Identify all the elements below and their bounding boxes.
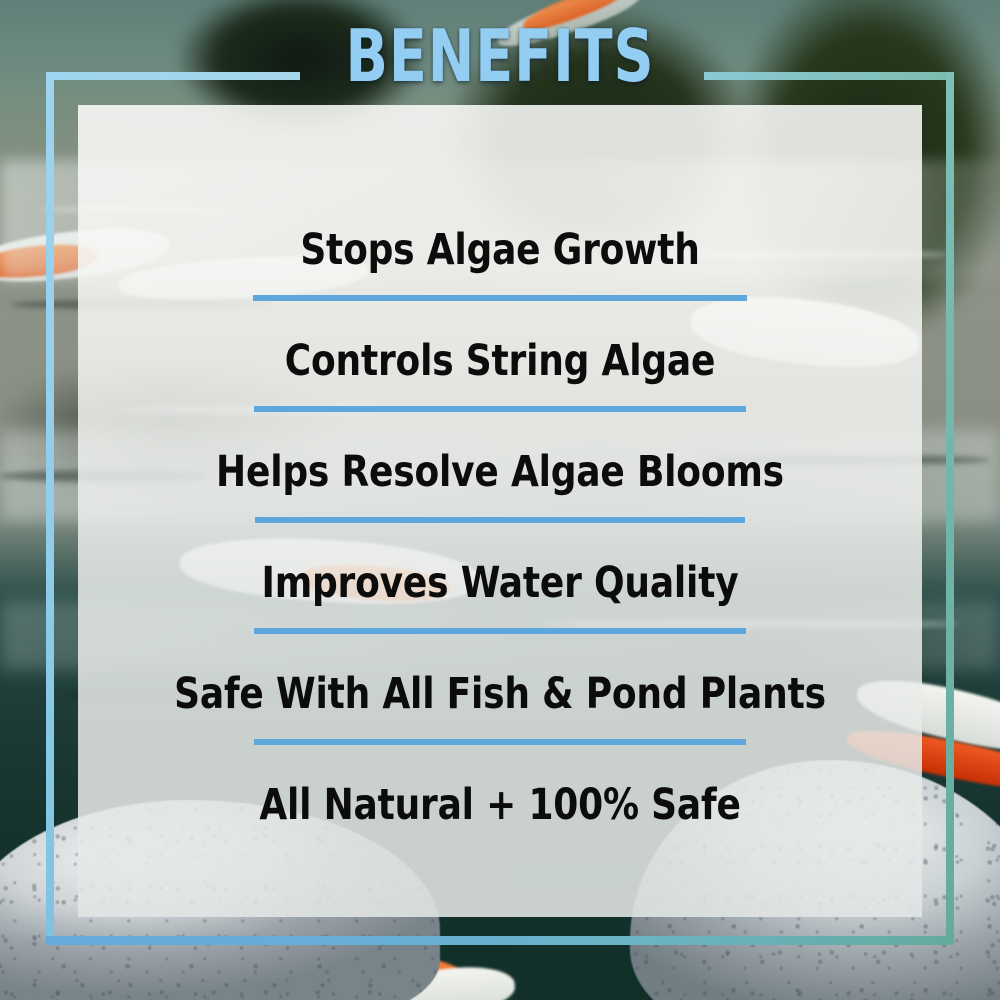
benefit-label: Improves Water Quality bbox=[150, 562, 849, 606]
benefit-label: All Natural + 100% Safe bbox=[150, 784, 849, 828]
benefit-divider bbox=[254, 406, 746, 412]
benefit-label: Stops Algae Growth bbox=[150, 229, 849, 273]
benefit-divider bbox=[254, 739, 746, 745]
benefit-item: Stops Algae Growth bbox=[124, 229, 876, 301]
frame-border-left bbox=[46, 72, 54, 945]
benefit-item: Safe With All Fish & Pond Plants bbox=[124, 673, 876, 745]
frame-border-right bbox=[946, 72, 954, 945]
benefit-item: Controls String Algae bbox=[124, 340, 876, 412]
benefit-label: Helps Resolve Algae Blooms bbox=[150, 451, 849, 495]
frame-border-bottom bbox=[46, 936, 954, 945]
benefit-divider bbox=[255, 517, 745, 523]
benefit-item: All Natural + 100% Safe bbox=[124, 784, 876, 828]
benefits-frame: Stops Algae Growth Controls String Algae… bbox=[46, 72, 954, 945]
benefit-item: Helps Resolve Algae Blooms bbox=[124, 451, 876, 523]
benefit-divider bbox=[254, 628, 746, 634]
benefit-item: Improves Water Quality bbox=[124, 562, 876, 634]
benefit-label: Controls String Algae bbox=[150, 340, 849, 384]
benefits-list: Stops Algae Growth Controls String Algae… bbox=[124, 177, 876, 862]
benefit-label: Safe With All Fish & Pond Plants bbox=[150, 673, 849, 717]
benefit-divider bbox=[253, 295, 747, 301]
page-title: BENEFITS bbox=[70, 20, 930, 92]
